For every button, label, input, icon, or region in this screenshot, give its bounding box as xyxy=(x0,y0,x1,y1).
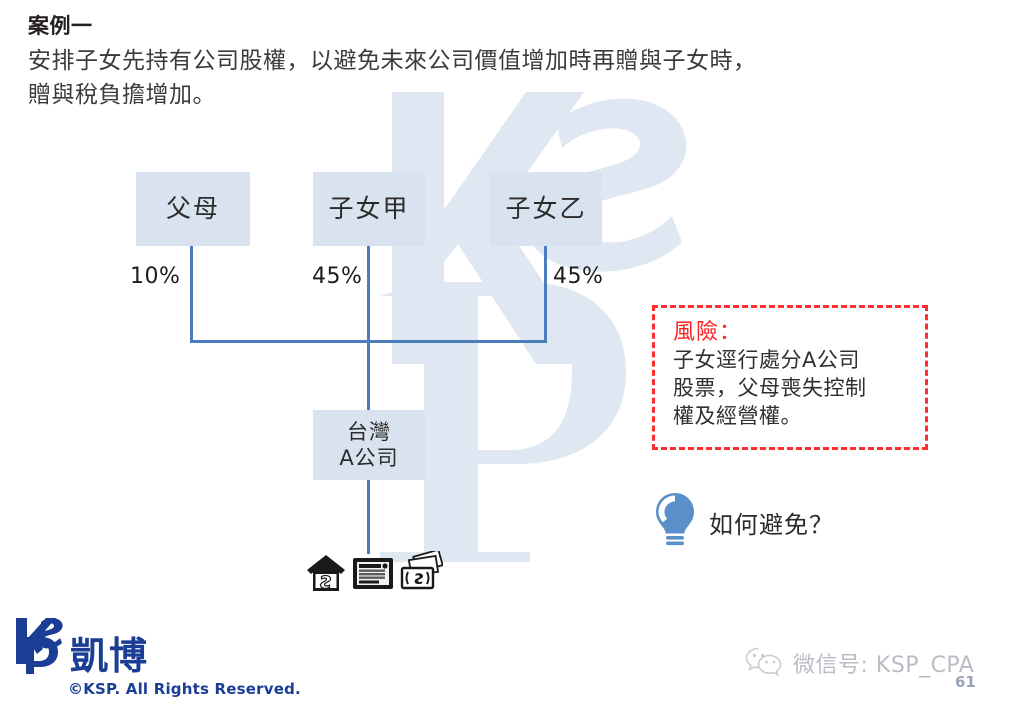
connector-child-b-vertical xyxy=(544,246,547,342)
description-line-2: 贈與稅負擔增加。 xyxy=(28,78,928,112)
wechat-icon xyxy=(744,645,784,681)
page-title: 案例一 xyxy=(28,10,93,40)
ownership-percent-child-b: 45% xyxy=(553,264,603,289)
org-node-child-b[interactable]: 子女乙 xyxy=(490,172,602,246)
org-node-company[interactable]: 台灣 A公司 xyxy=(313,410,425,480)
ksp-logo-chinese: 凱博 xyxy=(70,636,148,676)
slide-canvas: 案例一 安排子女先持有公司股權，以避免未來公司價值增加時再贈與子女時， 贈與稅負… xyxy=(0,0,1024,710)
question-row: 如何避免？ xyxy=(653,492,834,552)
org-node-parents-label: 父母 xyxy=(166,193,220,225)
risk-title: 風險： xyxy=(673,314,742,346)
machinery-icon xyxy=(351,553,395,597)
company-label-line-1: 台灣 xyxy=(347,419,391,445)
connector-parents-vertical xyxy=(190,246,193,342)
org-node-parents[interactable]: 父母 xyxy=(136,172,250,246)
ownership-percent-parents: 10% xyxy=(130,264,180,289)
company-label-line-2: A公司 xyxy=(339,445,398,471)
wechat-row: 微信号: KSP_CPA xyxy=(744,645,974,681)
company-assets-icons xyxy=(305,551,443,597)
risk-callout: 風險： 子女逕行處分A公司 股票，父母喪失控制 權及經營權。 xyxy=(652,305,928,450)
org-node-child-a-label: 子女甲 xyxy=(328,193,409,225)
connector-to-company xyxy=(367,340,370,412)
connector-company-to-assets xyxy=(367,479,370,554)
risk-line-2: 股票，父母喪失控制 xyxy=(673,374,917,402)
description-line-1: 安排子女先持有公司股權，以避免未來公司價值增加時再贈與子女時， xyxy=(28,48,757,74)
org-node-child-a[interactable]: 子女甲 xyxy=(313,172,425,246)
ksp-monogram-icon xyxy=(12,612,68,678)
cash-icon xyxy=(399,551,443,597)
wechat-id-text: 微信号: KSP_CPA xyxy=(793,647,974,679)
copyright-text: ©KSP. All Rights Reserved. xyxy=(68,680,301,698)
risk-line-3: 權及經營權。 xyxy=(673,402,917,430)
ownership-percent-child-a: 45% xyxy=(312,264,362,289)
risk-line-1: 子女逕行處分A公司 xyxy=(673,346,917,374)
org-node-child-b-label: 子女乙 xyxy=(505,193,586,225)
ksp-watermark xyxy=(330,92,690,562)
house-icon xyxy=(305,553,347,597)
risk-description: 子女逕行處分A公司 股票，父母喪失控制 權及經營權。 xyxy=(673,346,917,430)
question-text: 如何避免？ xyxy=(709,505,834,540)
lightbulb-icon xyxy=(653,492,697,552)
page-description: 安排子女先持有公司股權，以避免未來公司價值增加時再贈與子女時， 贈與稅負擔增加。 xyxy=(28,44,928,112)
ksp-logo: 凱博 ©KSP. All Rights Reserved. xyxy=(12,612,301,698)
page-number: 61 xyxy=(955,673,976,691)
connector-child-a-vertical xyxy=(367,246,370,342)
